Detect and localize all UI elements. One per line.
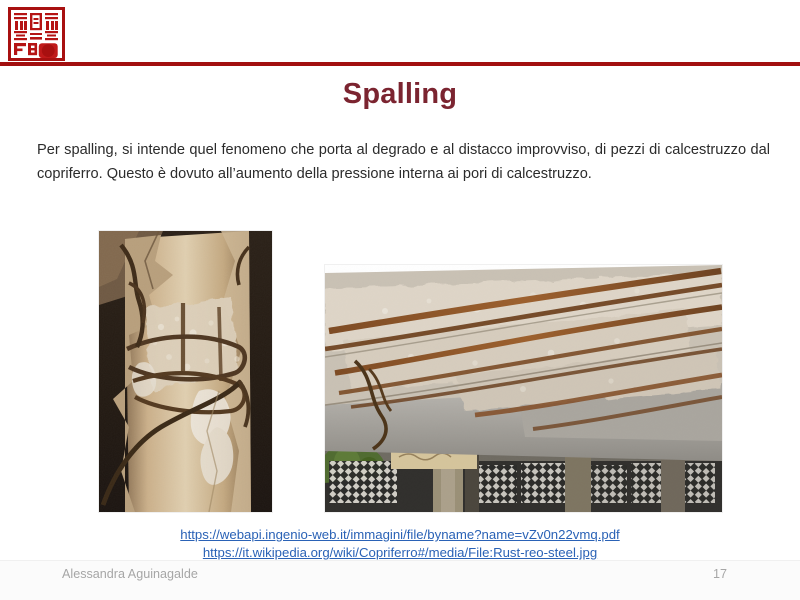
spalled-concrete-soffit-photo [325,265,722,512]
red-seal-stamp-logo [8,7,65,61]
header-divider [0,62,800,66]
spalled-concrete-column-photo [99,231,272,512]
source-link-ingenio[interactable]: https://webapi.ingenio-web.it/immagini/f… [0,526,800,544]
footer-author: Alessandra Aguinagalde [62,567,198,581]
source-links: https://webapi.ingenio-web.it/immagini/f… [0,526,800,562]
body-paragraph: Per spalling, si intende quel fenomeno c… [37,138,770,186]
footer-page-number: 17 [700,567,740,581]
page-title: Spalling [0,78,800,111]
slide: Spalling Per spalling, si intende quel f… [0,0,800,600]
